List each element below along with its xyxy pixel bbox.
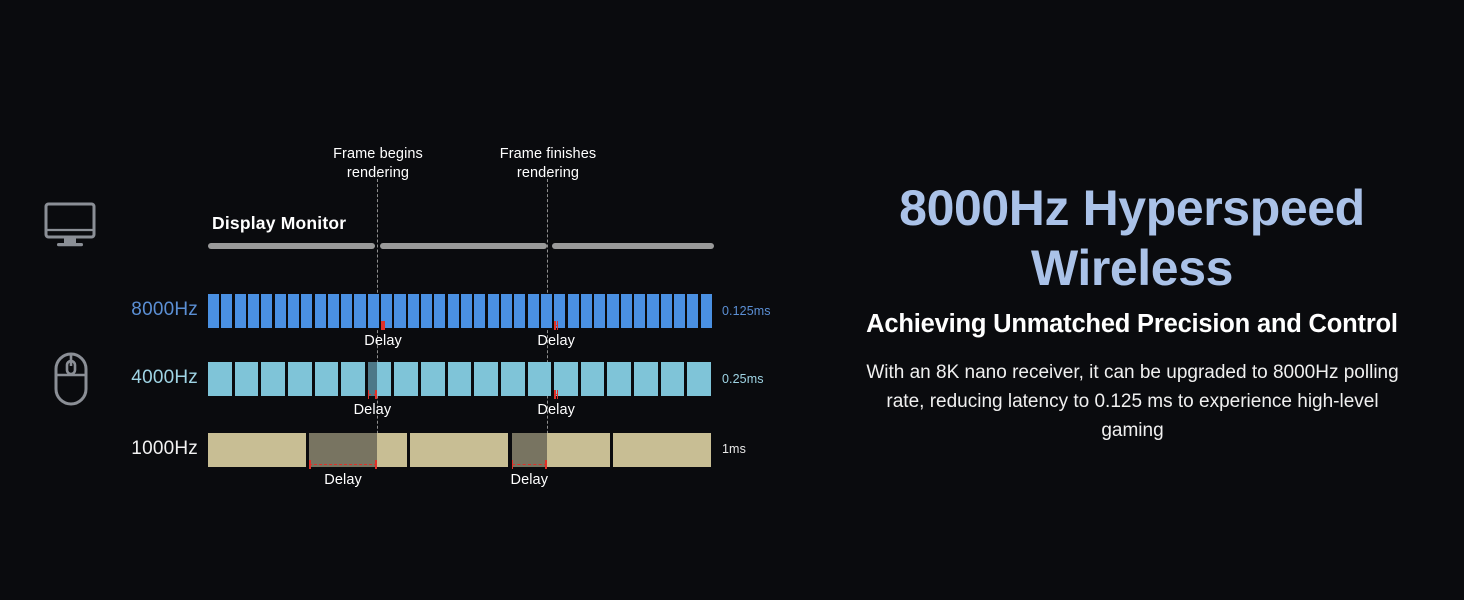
poll-bar-shade (512, 433, 547, 467)
poll-bar (613, 433, 711, 467)
delay-end-cap (375, 460, 377, 469)
row-unit-4000hz: 0.25ms (722, 372, 764, 386)
promo-banner: Frame begins rendering Frame finishes re… (0, 0, 1464, 600)
poll-bar (288, 362, 312, 396)
bar-row-8000hz (208, 294, 714, 328)
poll-bar (474, 362, 498, 396)
delay-span-line (309, 464, 377, 465)
polling-rate-diagram: Frame begins rendering Frame finishes re… (0, 0, 800, 600)
delay-end-cap (545, 460, 547, 469)
row-label-1000hz: 1000Hz (18, 438, 198, 460)
delay-end-cap (309, 460, 311, 469)
poll-bar (634, 294, 645, 328)
poll-bar (208, 433, 306, 467)
bar-row-1000hz (208, 433, 714, 467)
poll-bar (410, 433, 508, 467)
row-label-4000hz: 4000Hz (18, 367, 198, 389)
poll-bar (512, 433, 610, 467)
poll-bar (687, 294, 698, 328)
delay-label: Delay (343, 333, 423, 349)
poll-bar (607, 362, 631, 396)
poll-bar (315, 362, 339, 396)
delay-end-cap (554, 321, 556, 330)
poll-bar (368, 362, 392, 396)
delay-end-cap (557, 390, 559, 399)
row-unit-8000hz: 0.125ms (722, 304, 771, 318)
poll-bar (581, 294, 592, 328)
delay-end-cap (375, 390, 377, 399)
delay-end-cap (383, 321, 385, 330)
poll-bar (341, 294, 352, 328)
poll-bar (661, 362, 685, 396)
poll-bar (528, 294, 539, 328)
delay-label: Delay (516, 333, 596, 349)
poll-bar (528, 362, 552, 396)
poll-bar (434, 294, 445, 328)
annotation-frame-begins: Frame begins rendering (312, 145, 444, 183)
monitor-segment (380, 243, 547, 249)
delay-label: Delay (332, 402, 412, 418)
poll-bar (235, 362, 259, 396)
poll-bar (674, 294, 685, 328)
poll-bar (621, 294, 632, 328)
poll-bar (581, 362, 605, 396)
poll-bar (309, 433, 407, 467)
poll-bar (248, 294, 259, 328)
poll-bar (647, 294, 658, 328)
poll-bar (607, 294, 618, 328)
poll-bar (501, 294, 512, 328)
body-paragraph: With an 8K nano receiver, it can be upgr… (860, 358, 1405, 445)
poll-bar (221, 294, 232, 328)
delay-end-cap (368, 390, 370, 399)
poll-bar (421, 362, 445, 396)
poll-bar (541, 294, 552, 328)
display-monitor-label: Display Monitor (212, 213, 346, 234)
poll-bar (461, 294, 472, 328)
delay-end-cap (557, 321, 559, 330)
poll-bar (341, 362, 365, 396)
headline: 8000Hz Hyperspeed Wireless (812, 178, 1452, 298)
delay-end-cap (512, 460, 514, 469)
delay-marker: Delay (381, 325, 385, 351)
poll-bar (474, 294, 485, 328)
poll-bar (701, 294, 712, 328)
monitor-segment (208, 243, 375, 249)
poll-bar (408, 294, 419, 328)
delay-marker: Delay (512, 464, 547, 490)
row-unit-1000hz: 1ms (722, 442, 746, 456)
poll-bar (354, 294, 365, 328)
poll-bar (208, 294, 219, 328)
poll-bar (448, 294, 459, 328)
delay-marker: Delay (309, 464, 377, 490)
delay-label: Delay (303, 472, 383, 488)
poll-bar (568, 294, 579, 328)
delay-label: Delay (489, 472, 569, 488)
delay-end-cap (554, 390, 556, 399)
poll-bar (501, 362, 525, 396)
monitor-segment (552, 243, 714, 249)
poll-bar (661, 294, 672, 328)
display-monitor-track (208, 243, 714, 249)
poll-bar (288, 294, 299, 328)
poll-bar (261, 294, 272, 328)
delay-marker: Delay (554, 394, 558, 420)
poll-bar (315, 294, 326, 328)
delay-label: Delay (516, 402, 596, 418)
subheadline: Achieving Unmatched Precision and Contro… (800, 310, 1464, 339)
poll-bar (208, 362, 232, 396)
poll-bar (421, 294, 432, 328)
monitor-icon (44, 202, 96, 248)
poll-bar (301, 294, 312, 328)
poll-bar (261, 362, 285, 396)
delay-end-cap (381, 321, 383, 330)
delay-marker: Delay (368, 394, 377, 420)
poll-bar (488, 294, 499, 328)
annotation-frame-finishes: Frame finishes rendering (482, 145, 614, 183)
bar-row-4000hz (208, 362, 714, 396)
poll-bar (634, 362, 658, 396)
poll-bar (448, 362, 472, 396)
promo-copy: 8000Hz Hyperspeed Wireless Achieving Unm… (800, 0, 1464, 600)
poll-bar-shade (309, 433, 377, 467)
poll-bar (514, 294, 525, 328)
poll-bar (368, 294, 379, 328)
poll-bar (394, 362, 418, 396)
poll-bar (394, 294, 405, 328)
poll-bar (687, 362, 711, 396)
poll-bar (328, 294, 339, 328)
delay-span-line (512, 464, 547, 465)
row-label-8000hz: 8000Hz (18, 299, 198, 321)
poll-bar (235, 294, 246, 328)
delay-marker: Delay (554, 325, 558, 351)
poll-bar (594, 294, 605, 328)
poll-bar (275, 294, 286, 328)
